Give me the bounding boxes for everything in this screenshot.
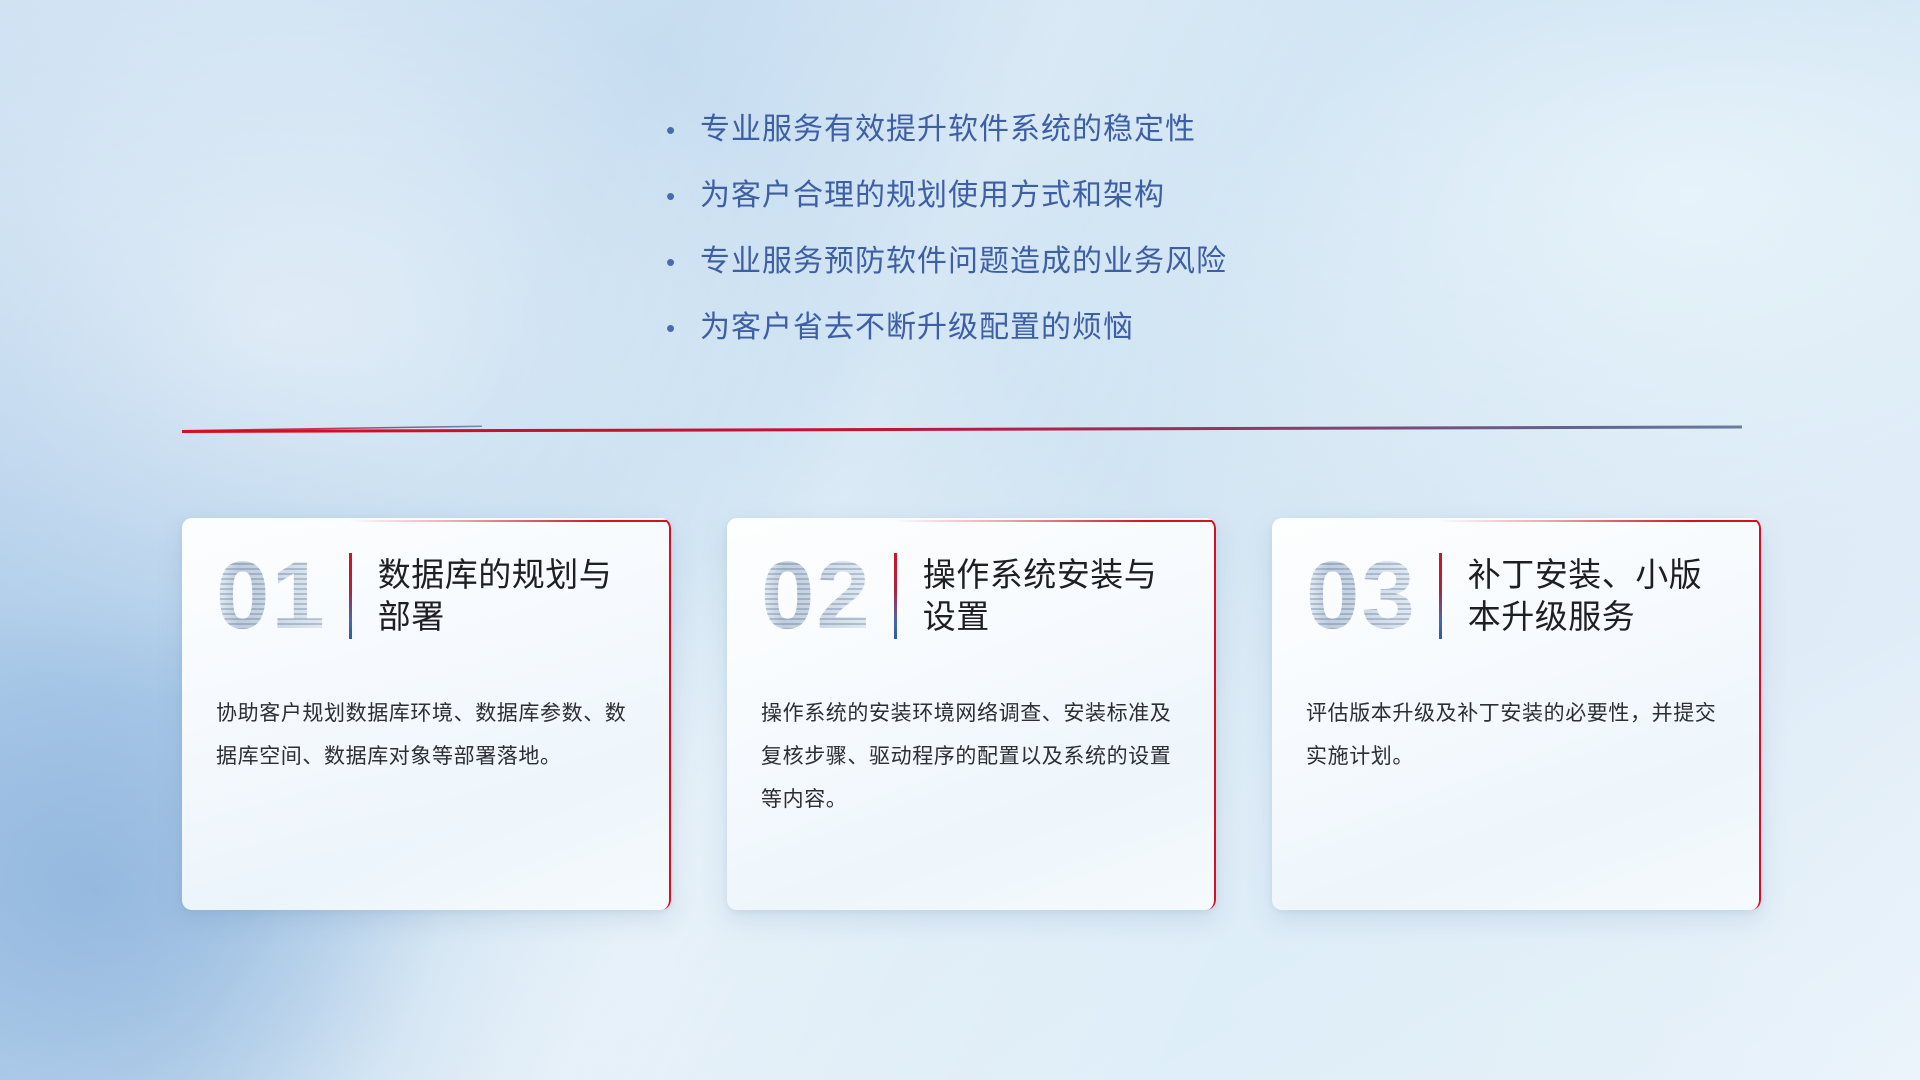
card-number: 03 — [1306, 548, 1417, 644]
section-divider — [182, 418, 1742, 440]
list-item: • 为客户省去不断升级配置的烦恼 — [660, 310, 1480, 346]
card-title: 补丁安装、小版本升级服务 — [1468, 554, 1728, 638]
card-title: 数据库的规划与部署 — [378, 554, 638, 638]
tapered-rule-icon — [182, 418, 1742, 440]
benefits-bullet-list: • 专业服务有效提升软件系统的稳定性 • 为客户合理的规划使用方式和架构 • 专… — [660, 112, 1480, 376]
bullet-dot-icon: • — [660, 117, 700, 143]
bullet-text: 专业服务预防软件问题造成的业务风险 — [700, 244, 1227, 280]
card-header: 02 操作系统安装与设置 — [727, 518, 1216, 646]
list-item: • 专业服务预防软件问题造成的业务风险 — [660, 244, 1480, 280]
card-divider-rule — [1439, 553, 1442, 639]
bullet-text: 专业服务有效提升软件系统的稳定性 — [700, 112, 1196, 148]
card-number: 02 — [761, 548, 872, 644]
bullet-text: 为客户省去不断升级配置的烦恼 — [700, 310, 1134, 346]
card-divider-rule — [349, 553, 352, 639]
card-header: 01 数据库的规划与部署 — [182, 518, 671, 646]
bullet-dot-icon: • — [660, 183, 700, 209]
bullet-text: 为客户合理的规划使用方式和架构 — [700, 178, 1165, 214]
service-card-03[interactable]: 03 补丁安装、小版本升级服务 评估版本升级及补丁安装的必要性，并提交实施计划。 — [1272, 518, 1761, 910]
list-item: • 为客户合理的规划使用方式和架构 — [660, 178, 1480, 214]
service-card-01[interactable]: 01 数据库的规划与部署 协助客户规划数据库环境、数据库参数、数据库空间、数据库… — [182, 518, 671, 910]
card-divider-rule — [894, 553, 897, 639]
card-description: 操作系统的安装环境网络调查、安装标准及复核步骤、驱动程序的配置以及系统的设置等内… — [727, 646, 1216, 821]
service-cards-row: 01 数据库的规划与部署 协助客户规划数据库环境、数据库参数、数据库空间、数据库… — [182, 518, 1762, 910]
card-number: 01 — [216, 548, 327, 644]
card-description: 协助客户规划数据库环境、数据库参数、数据库空间、数据库对象等部署落地。 — [182, 646, 671, 778]
card-header: 03 补丁安装、小版本升级服务 — [1272, 518, 1761, 646]
bullet-dot-icon: • — [660, 315, 700, 341]
card-title: 操作系统安装与设置 — [923, 554, 1183, 638]
card-description: 评估版本升级及补丁安装的必要性，并提交实施计划。 — [1272, 646, 1761, 778]
bullet-dot-icon: • — [660, 249, 700, 275]
service-card-02[interactable]: 02 操作系统安装与设置 操作系统的安装环境网络调查、安装标准及复核步骤、驱动程… — [727, 518, 1216, 910]
list-item: • 专业服务有效提升软件系统的稳定性 — [660, 112, 1480, 148]
slide-canvas: • 专业服务有效提升软件系统的稳定性 • 为客户合理的规划使用方式和架构 • 专… — [0, 0, 1920, 1080]
